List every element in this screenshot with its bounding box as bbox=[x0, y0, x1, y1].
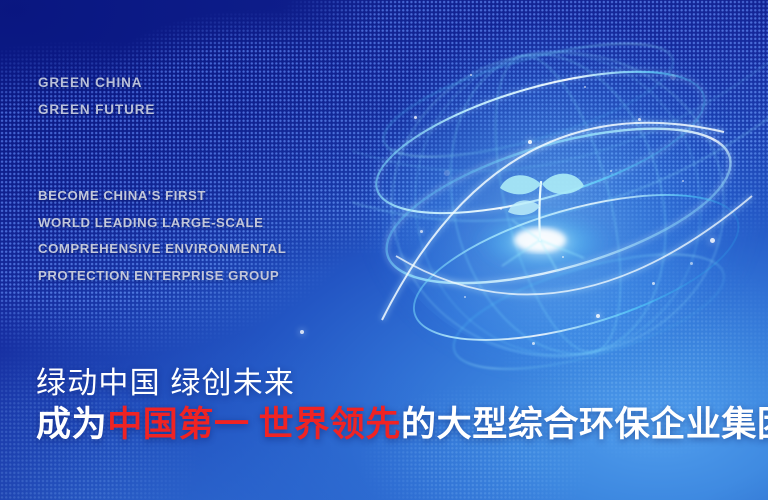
headline-prefix: 成为 bbox=[36, 405, 107, 444]
headline-block: 绿动中国 绿创未来 成为中国第一世界领先的大型综合环保企业集团 bbox=[36, 366, 756, 446]
eyebrow-line-1: GREEN CHINA bbox=[38, 70, 155, 97]
claims-block: BECOME CHINA'S FIRST WORLD LEADING LARGE… bbox=[38, 183, 286, 289]
claims-line-3: COMPREHENSIVE ENVIRONMENTAL bbox=[38, 236, 286, 263]
headline-accent-china-first: 中国第一 bbox=[107, 405, 249, 444]
headline-accent-world-leading: 世界领先 bbox=[259, 405, 401, 444]
headline-line-1: 绿动中国 绿创未来 bbox=[36, 366, 756, 402]
headline-line-2: 成为中国第一世界领先的大型综合环保企业集团 bbox=[36, 404, 756, 446]
eyebrow-line-2: GREEN FUTURE bbox=[38, 97, 155, 124]
claims-line-2: WORLD LEADING LARGE-SCALE bbox=[38, 210, 286, 237]
claims-line-1: BECOME CHINA'S FIRST bbox=[38, 183, 286, 210]
eyebrow-tagline: GREEN CHINA GREEN FUTURE bbox=[38, 70, 155, 123]
headline-suffix: 的大型综合环保企业集团 bbox=[401, 405, 768, 444]
claims-line-4: PROTECTION ENTERPRISE GROUP bbox=[38, 263, 286, 290]
hero-banner: GREEN CHINA GREEN FUTURE BECOME CHINA'S … bbox=[0, 0, 768, 500]
